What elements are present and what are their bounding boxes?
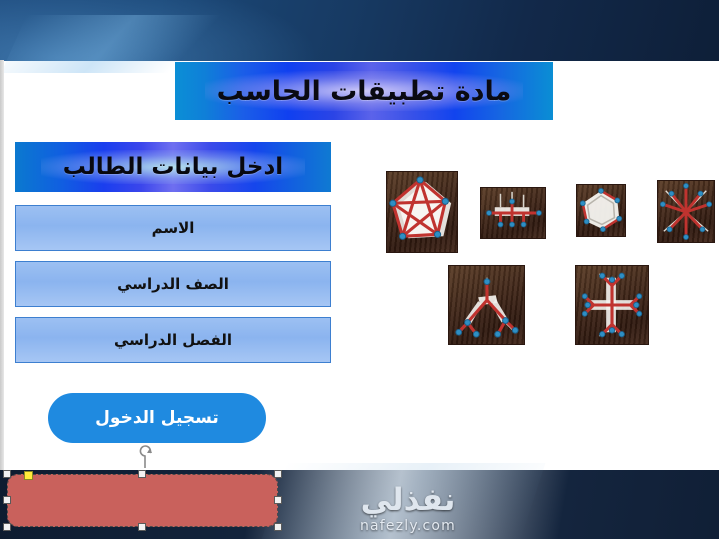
rotate-handle-icon[interactable]	[137, 444, 153, 470]
section-header-banner: ادخل بيانات الطالب	[15, 142, 331, 192]
branched-model-icon	[449, 266, 524, 344]
top-banner	[0, 0, 719, 61]
field-student-name[interactable]: الاسم	[15, 205, 331, 251]
pentagon-model-icon	[387, 172, 457, 252]
resize-handle-middle-right[interactable]	[274, 496, 282, 504]
section-header-label: ادخل بيانات الطالب	[63, 154, 283, 180]
resize-handle-top-right[interactable]	[274, 470, 282, 478]
login-button-label: تسجيل الدخول	[95, 408, 219, 428]
resize-handle-middle-left[interactable]	[3, 496, 11, 504]
shape-adjust-handle[interactable]	[24, 471, 33, 480]
field-student-name-label: الاسم	[152, 219, 195, 237]
left-gutter	[0, 60, 4, 470]
resize-handle-bottom-center[interactable]	[138, 523, 146, 531]
resize-handle-top-left[interactable]	[3, 470, 11, 478]
field-grade-label: الصف الدراسي	[117, 275, 229, 293]
cross-model-icon	[576, 266, 648, 344]
gallery-item-pentagon-model[interactable]	[386, 171, 458, 253]
page-title: مادة تطبيقات الحاسب	[217, 76, 512, 107]
selection-outline	[7, 474, 278, 527]
field-grade[interactable]: الصف الدراسي	[15, 261, 331, 307]
resize-handle-bottom-left[interactable]	[3, 523, 11, 531]
gallery-item-cross-model[interactable]	[575, 265, 649, 345]
gallery-item-heptagon-model[interactable]	[576, 184, 626, 237]
slide-title-banner: مادة تطبيقات الحاسب	[175, 62, 553, 120]
resize-handle-top-center[interactable]	[138, 470, 146, 478]
field-semester[interactable]: الفصل الدراسي	[15, 317, 331, 363]
heptagon-model-icon	[577, 185, 625, 236]
field-semester-label: الفصل الدراسي	[114, 331, 232, 349]
resize-handle-bottom-right[interactable]	[274, 523, 282, 531]
linear-model-icon	[481, 188, 545, 238]
login-button[interactable]: تسجيل الدخول	[48, 393, 266, 443]
starburst-model-icon	[658, 181, 714, 242]
gallery-item-starburst-model[interactable]	[657, 180, 715, 243]
bottom-band-sheen	[260, 463, 546, 539]
selected-shape[interactable]	[4, 470, 281, 530]
gallery-item-linear-model[interactable]	[480, 187, 546, 239]
gallery-item-branched-model[interactable]	[448, 265, 525, 345]
slide-canvas: مادة تطبيقات الحاسب ادخل بيانات الطالب ا…	[0, 0, 719, 539]
